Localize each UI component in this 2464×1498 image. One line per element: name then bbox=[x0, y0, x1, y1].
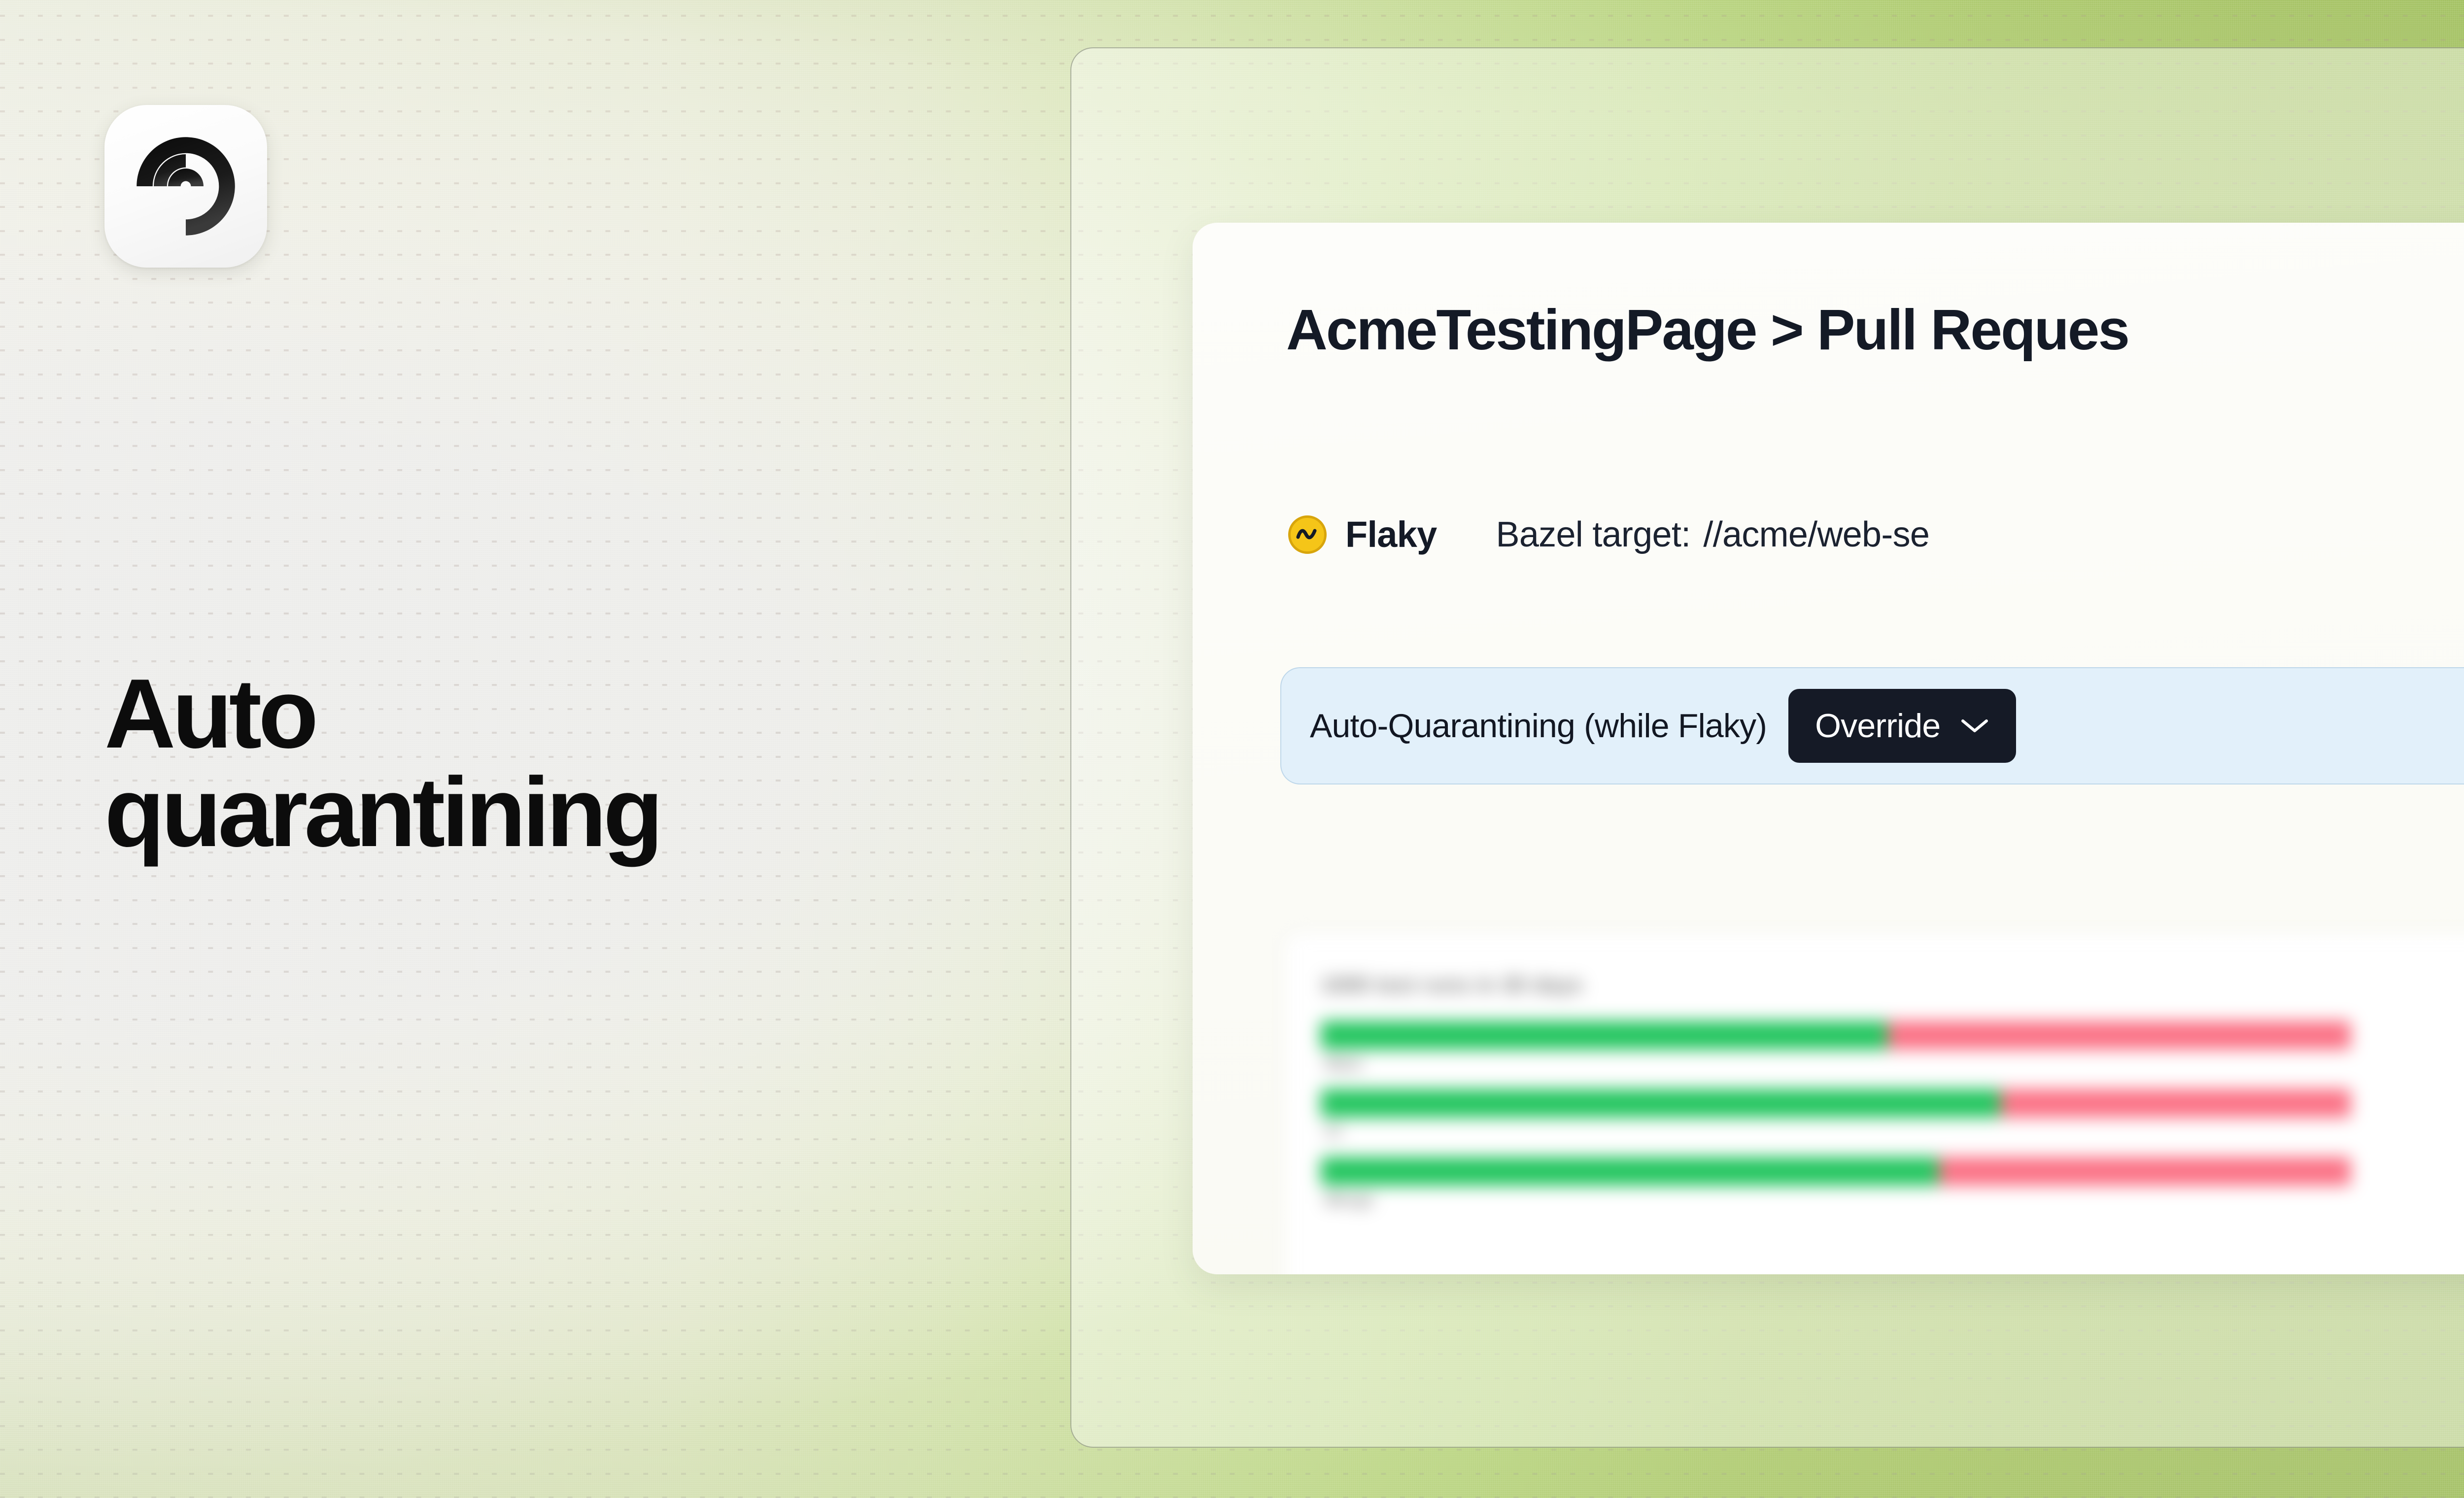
screenshot-stage: Auto quarantining AcmeTestingPage > Pull… bbox=[0, 0, 2464, 1498]
status-badge: Flaky bbox=[1345, 513, 1437, 555]
chart-row: Main55% bbox=[1321, 1017, 2464, 1085]
chart-row: Merge60% bbox=[1321, 1153, 2464, 1221]
bar-track bbox=[1321, 1089, 2351, 1118]
override-button-label: Override bbox=[1815, 707, 1940, 745]
bar-segment-failed bbox=[1939, 1157, 2351, 1186]
override-button[interactable]: Override bbox=[1788, 689, 2016, 763]
chart-row-label: Merge bbox=[1325, 1191, 1374, 1210]
auto-quarantine-banner: Auto-Quarantining (while Flaky) Override bbox=[1280, 667, 2464, 784]
signal-arcs-logo-icon bbox=[129, 129, 243, 243]
bar-track bbox=[1321, 1021, 2351, 1050]
test-runs-chart: 1000 test runs in 30 days Main55%CI66%Me… bbox=[1285, 933, 2464, 1274]
breadcrumb: AcmeTestingPage > Pull Reques bbox=[1286, 297, 2128, 363]
page-title: Auto quarantining bbox=[104, 665, 942, 862]
bazel-target-value: //acme/web-se bbox=[1703, 514, 1929, 555]
flaky-wave-icon bbox=[1288, 515, 1327, 554]
app-card: AcmeTestingPage > Pull Reques Flaky Baze… bbox=[1193, 223, 2464, 1274]
chart-row-label: Main bbox=[1325, 1055, 1363, 1074]
bar-segment-failed bbox=[1887, 1021, 2351, 1050]
chart-rows: Main55%CI66%Merge60% bbox=[1321, 1017, 2464, 1221]
chart-title: 1000 test runs in 30 days bbox=[1321, 973, 2464, 997]
bar-track bbox=[1321, 1157, 2351, 1186]
chevron-down-icon bbox=[1960, 717, 1989, 735]
auto-quarantine-label: Auto-Quarantining (while Flaky) bbox=[1310, 707, 1767, 745]
app-logo bbox=[104, 105, 267, 268]
bar-segment-passed bbox=[1321, 1157, 1939, 1186]
bar-segment-passed bbox=[1321, 1089, 2000, 1118]
bar-segment-failed bbox=[2000, 1089, 2351, 1118]
test-meta-row: Flaky Bazel target: //acme/web-se bbox=[1288, 513, 1929, 555]
bazel-target-label: Bazel target: bbox=[1496, 514, 1691, 555]
chart-row-label: CI bbox=[1325, 1123, 1341, 1142]
bar-segment-passed bbox=[1321, 1021, 1887, 1050]
chart-row: CI66% bbox=[1321, 1085, 2464, 1153]
